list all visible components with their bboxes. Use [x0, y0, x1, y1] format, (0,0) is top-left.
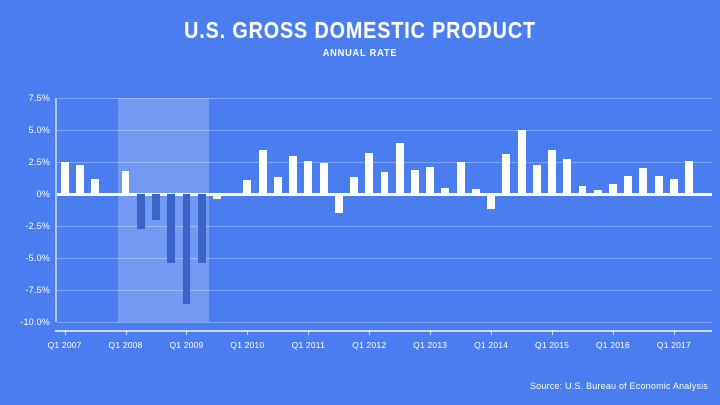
- bar: [426, 167, 434, 194]
- bar: [441, 188, 449, 194]
- bar: [122, 171, 130, 194]
- y-axis-labels: 7.5%5.0%2.5%0%-2.5%-5.0%-7.5%-10.0%: [0, 98, 50, 322]
- bar: [655, 176, 663, 194]
- recession-shading: [118, 98, 209, 322]
- y-axis-line: [55, 98, 57, 322]
- bar: [259, 150, 267, 194]
- x-axis-tick-label: Q1 2007: [48, 340, 82, 350]
- bar: [91, 179, 99, 194]
- gdp-chart: U.S. GROSS DOMESTIC PRODUCT ANNUAL RATE …: [0, 0, 720, 405]
- x-axis-tick-label: Q1 2011: [292, 340, 325, 350]
- y-axis-tick-label: 5.0%: [4, 125, 50, 135]
- y-axis-tick-label: -5.0%: [4, 253, 50, 263]
- bar: [609, 184, 617, 194]
- bar: [61, 162, 69, 194]
- chart-subtitle: ANNUAL RATE: [43, 47, 677, 59]
- x-axis-tick: [613, 330, 614, 335]
- y-axis-tick-label: 0%: [4, 189, 50, 199]
- plot-area: [57, 98, 712, 322]
- x-axis-tick: [552, 330, 553, 335]
- x-axis-tick: [491, 330, 492, 335]
- bar: [411, 170, 419, 194]
- bar: [274, 177, 282, 194]
- x-axis-tick-label: Q1 2016: [596, 340, 630, 350]
- page-title: U.S. GROSS DOMESTIC PRODUCT: [50, 18, 669, 42]
- x-axis-tick-label: Q1 2014: [474, 340, 508, 350]
- bar: [472, 189, 480, 194]
- bar: [639, 168, 647, 194]
- x-axis-tick: [308, 330, 309, 335]
- bar: [320, 163, 328, 194]
- title-block: U.S. GROSS DOMESTIC PRODUCT ANNUAL RATE: [0, 18, 720, 59]
- bar: [624, 176, 632, 194]
- x-axis-tick: [186, 330, 187, 335]
- bar: [335, 194, 343, 213]
- bar: [457, 162, 465, 194]
- x-axis-tick: [430, 330, 431, 335]
- x-axis-tick: [674, 330, 675, 335]
- bar: [152, 194, 160, 220]
- bar: [183, 194, 191, 304]
- x-axis-tick-label: Q1 2012: [352, 340, 386, 350]
- bar: [304, 161, 312, 194]
- x-axis-tick-label: Q1 2008: [109, 340, 143, 350]
- bar: [533, 165, 541, 194]
- bar: [396, 143, 404, 194]
- bar: [198, 194, 206, 263]
- x-axis-tick: [126, 330, 127, 335]
- bar: [548, 150, 556, 194]
- gridline: [57, 322, 712, 323]
- x-axis-tick: [247, 330, 248, 335]
- x-axis-tick-label: Q1 2010: [230, 340, 264, 350]
- y-axis-tick-label: -7.5%: [4, 285, 50, 295]
- bar: [381, 172, 389, 194]
- bar: [213, 194, 221, 199]
- y-axis-tick-label: 7.5%: [4, 93, 50, 103]
- x-axis-tick: [65, 330, 66, 335]
- bar: [365, 153, 373, 194]
- bar: [289, 156, 297, 194]
- bar: [137, 194, 145, 229]
- x-axis-tick-label: Q1 2015: [535, 340, 569, 350]
- y-axis-tick-label: -2.5%: [4, 221, 50, 231]
- bar: [670, 179, 678, 194]
- x-axis-tick-label: Q1 2013: [413, 340, 447, 350]
- x-axis-tick: [369, 330, 370, 335]
- y-axis-tick-label: -10.0%: [4, 317, 50, 327]
- bar: [685, 161, 693, 194]
- bar: [76, 165, 84, 194]
- bar: [579, 186, 587, 194]
- bar: [167, 194, 175, 263]
- bar: [502, 154, 510, 194]
- bar: [518, 130, 526, 194]
- source-attribution: Source: U.S. Bureau of Economic Analysis: [530, 381, 708, 391]
- bar: [594, 190, 602, 194]
- bar: [487, 194, 495, 209]
- y-axis-tick-label: 2.5%: [4, 157, 50, 167]
- bar: [563, 159, 571, 194]
- bar: [350, 177, 358, 194]
- bar: [243, 180, 251, 194]
- x-axis-tick-label: Q1 2009: [169, 340, 203, 350]
- x-axis-tick-label: Q1 2017: [657, 340, 691, 350]
